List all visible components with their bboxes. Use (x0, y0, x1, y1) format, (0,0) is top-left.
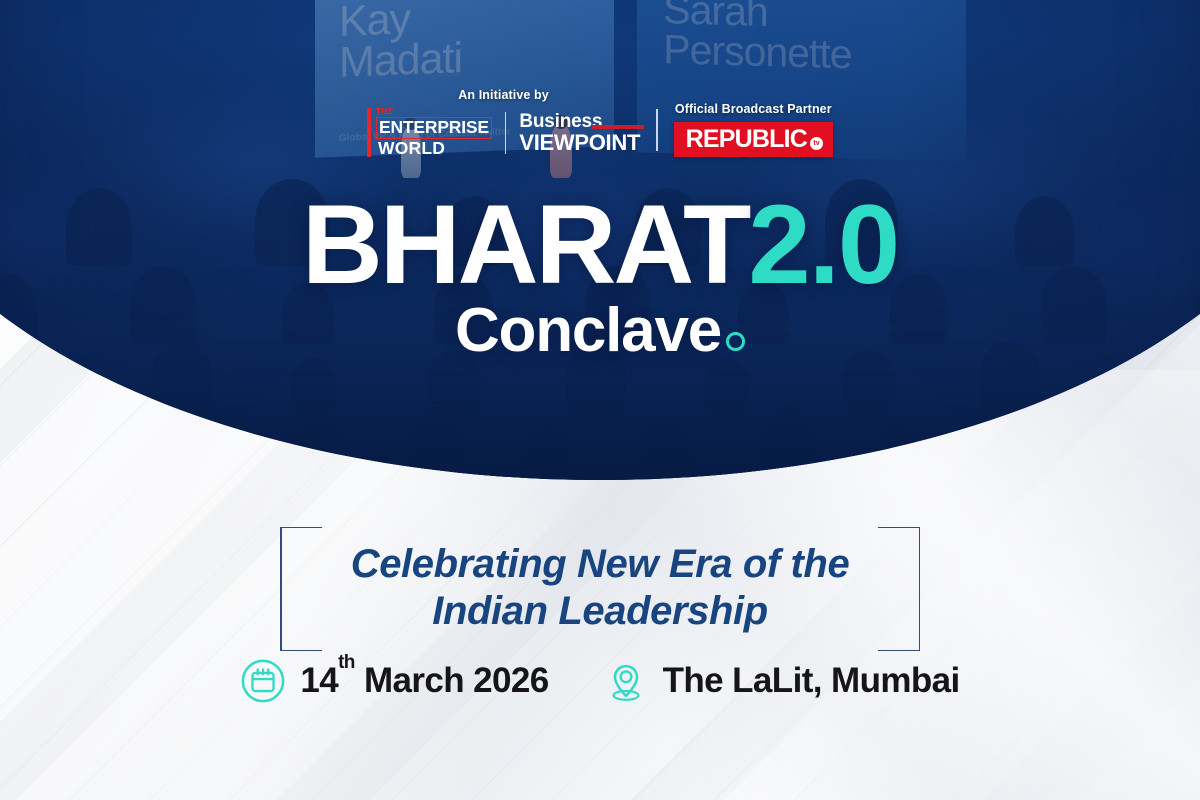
the-enterprise-world-logo[interactable]: THE ENTERPRISE WORLD (367, 108, 492, 157)
business-viewpoint-line-2: VIEWPOINT (519, 132, 640, 154)
event-meta-row: 14th March 2026 The LaLit, Mumbai (0, 658, 1200, 704)
bracket-right-rule (919, 527, 921, 651)
republic-tv-logo[interactable]: REPUBLIC tv (674, 122, 833, 157)
enterprise-world-line-2: WORLD (376, 140, 492, 158)
location-pin-icon (603, 658, 649, 704)
bracket-bottom-right-icon (878, 543, 920, 651)
event-title-version: 2.0 (748, 182, 898, 307)
event-venue-text: The LaLit, Mumbai (663, 661, 960, 701)
business-viewpoint-red-rule-icon (592, 125, 644, 129)
partner-section-divider (656, 109, 658, 151)
broadcast-partner-group: Official Broadcast Partner REPUBLIC tv (674, 102, 833, 157)
initiative-logos: THE ENTERPRISE WORLD Business VIEWPOINT (367, 108, 640, 157)
tagline-line-2: Indian Leadership (432, 589, 768, 633)
event-title-subword: Conclave (455, 296, 721, 365)
event-date-day: 14 (300, 661, 338, 700)
event-title-subword-row: Conclave (0, 300, 1200, 362)
bracket-left-rule (280, 527, 282, 651)
event-date-item: 14th March 2026 (240, 658, 548, 704)
partner-bar: An Initiative by THE ENTERPRISE WORLD Bu… (0, 88, 1200, 157)
tagline-line-1: Celebrating New Era of the (351, 542, 850, 586)
event-title-main-row: BHARAT2.0 (0, 193, 1200, 296)
logo-divider (505, 112, 507, 154)
bracket-bottom-left-icon (280, 543, 322, 651)
tagline-text: Celebrating New Era of the Indian Leader… (280, 527, 920, 651)
teal-circle-accent-icon (726, 332, 745, 351)
event-date-text: 14th March 2026 (300, 661, 548, 701)
enterprise-world-wordmark: THE ENTERPRISE WORLD (376, 108, 492, 157)
republic-tv-badge-icon: tv (810, 137, 823, 150)
republic-wordmark: REPUBLIC (686, 127, 807, 152)
initiative-label: An Initiative by (458, 88, 549, 102)
event-venue-item: The LaLit, Mumbai (603, 658, 960, 704)
event-date-month-year: March 2026 (364, 661, 549, 700)
calendar-icon (240, 658, 286, 704)
event-date-ordinal: th (338, 652, 355, 673)
event-poster: Kay Madati Global VP & Head of Content T… (0, 0, 1200, 800)
tagline-block: Celebrating New Era of the Indian Leader… (280, 527, 920, 651)
enterprise-world-line-1: ENTERPRISE (376, 117, 492, 139)
business-viewpoint-logo[interactable]: Business VIEWPOINT (519, 112, 640, 154)
enterprise-world-the: THE (376, 108, 492, 116)
broadcast-label: Official Broadcast Partner (675, 102, 832, 116)
initiative-partner-group: An Initiative by THE ENTERPRISE WORLD Bu… (367, 88, 640, 157)
event-title-block: BHARAT2.0 Conclave (0, 193, 1200, 362)
broadcast-logos: REPUBLIC tv (674, 122, 833, 157)
event-title-word: BHARAT (302, 182, 749, 307)
enterprise-world-red-bar-icon (367, 108, 371, 157)
